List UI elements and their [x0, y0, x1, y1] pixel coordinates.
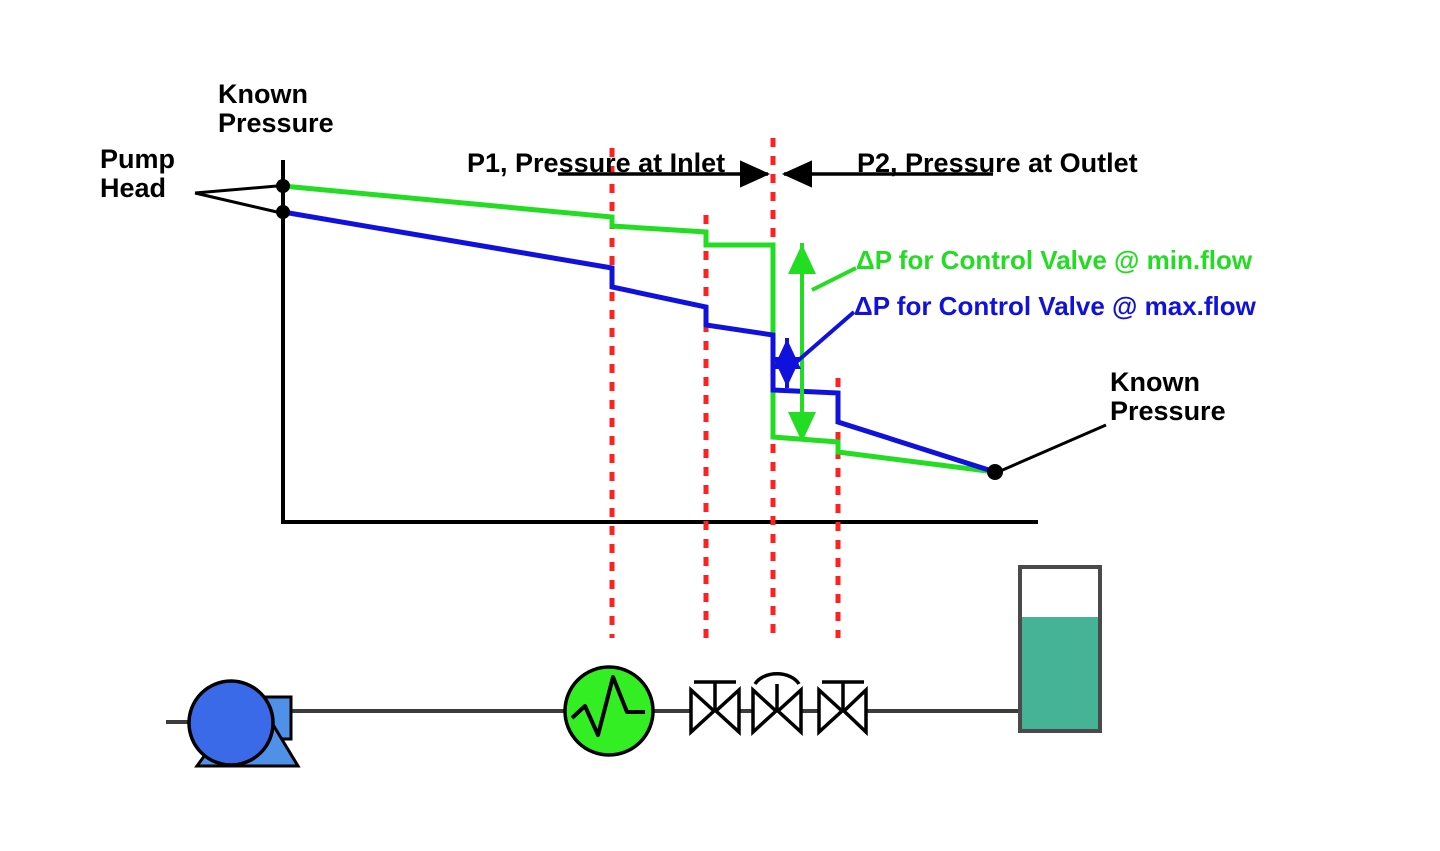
known-pressure-left-label: KnownPressure [218, 80, 334, 138]
p2-pressure-outlet-label: P2, Pressure at Outlet [827, 120, 1138, 207]
plot-axes [283, 160, 1038, 522]
pump-head-leader-lines [195, 186, 277, 212]
data-point-markers [276, 179, 1003, 480]
pump-casing [189, 681, 273, 765]
delta-p-bars [787, 243, 802, 440]
pump-head-leader-upper [195, 186, 277, 193]
control-valve-body [753, 690, 776, 732]
valve2-body [819, 690, 842, 732]
isolation-valve-1 [691, 682, 739, 732]
control-valve-body-right [778, 690, 801, 732]
diagram-canvas: KnownPressure PumpHead P1, Pressure at I… [0, 0, 1440, 851]
valve1-body [691, 690, 714, 732]
marker-known-pressure-min [276, 179, 290, 193]
flow-meter [565, 667, 653, 755]
station-dashed-lines [612, 138, 838, 638]
known-pressure-right-leader [998, 425, 1106, 472]
storage-tank [1020, 567, 1100, 731]
legend-leader-min-flow [812, 268, 856, 290]
marker-known-pressure-end [987, 464, 1003, 480]
pump-head-label: PumpHead [100, 145, 175, 203]
isolation-valve-2 [819, 682, 866, 732]
control-valve [753, 674, 801, 732]
pump-head-leader-lower [195, 193, 277, 212]
legend-item-min-flow: ΔP for Control Valve @ min.flow [856, 246, 1252, 274]
valve1-body-right [716, 690, 739, 732]
marker-known-pressure-max [276, 205, 290, 219]
known-pressure-right-label: KnownPressure [1110, 368, 1226, 426]
valve2-body-right [844, 690, 866, 732]
tank-liquid [1020, 617, 1100, 731]
centrifugal-pump [189, 681, 298, 766]
process-piping-diagram [166, 567, 1100, 766]
control-valve-actuator-dome [755, 674, 799, 684]
p1-pressure-inlet-label: P1, Pressure at Inlet [437, 120, 725, 207]
legend-item-max-flow: ΔP for Control Valve @ max.flow [854, 292, 1256, 320]
